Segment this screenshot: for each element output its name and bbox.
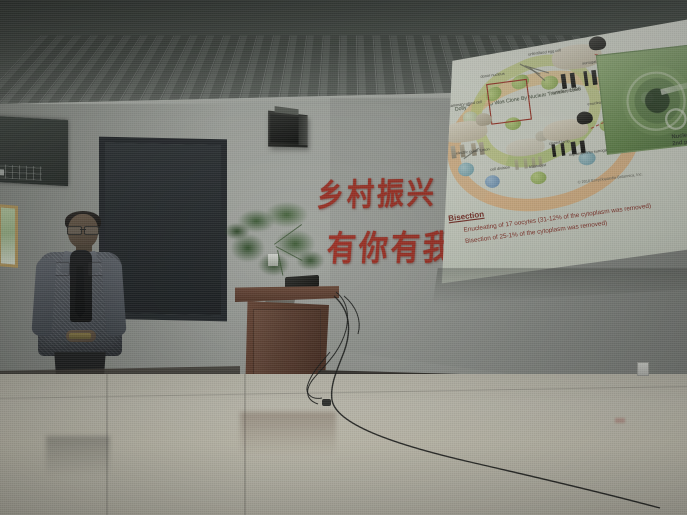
wall-mark xyxy=(615,418,625,423)
podium-floor-reflection xyxy=(240,412,336,456)
slide-content: Introduction and History Dolly The Sheep… xyxy=(434,18,687,286)
glasses-bridge xyxy=(80,229,86,230)
wall-outlet xyxy=(637,362,649,376)
oocyte-micrograph: Nuclei wi 2nd polar b xyxy=(596,44,687,155)
notice-board-marker xyxy=(0,169,4,175)
photo-scene: 乡村振兴 有你有我 Introduction and History Dolly… xyxy=(0,0,687,515)
glasses-icon xyxy=(67,226,99,233)
speaker-side xyxy=(299,115,308,145)
calligraphy-line-1: 乡村振兴 xyxy=(316,167,437,215)
cable-plug xyxy=(322,399,331,406)
wall-speaker-icon xyxy=(268,110,308,147)
presenter-clicker xyxy=(69,333,91,339)
inset-caption: Nuclei wi 2nd polar b xyxy=(671,130,687,149)
notice-board-grid xyxy=(0,164,42,180)
calligraphy-line-2: 有你有我 xyxy=(325,220,456,271)
projection-screen: Introduction and History Dolly The Sheep… xyxy=(434,18,687,286)
diagram-highlight-box xyxy=(486,79,532,125)
glasses-lens-left xyxy=(67,226,82,235)
presenter-shirt xyxy=(70,250,92,322)
presenter-floor-reflection xyxy=(46,436,110,476)
diagram-sheep-surrogate xyxy=(504,132,546,162)
plant-tag xyxy=(268,254,278,266)
sheep-head xyxy=(588,35,607,51)
wall-poster xyxy=(0,204,18,268)
notice-board xyxy=(0,116,68,186)
presenter-tie xyxy=(75,266,85,318)
glasses-lens-right xyxy=(84,226,99,235)
podium-top xyxy=(235,286,339,302)
speaker-face xyxy=(270,114,298,143)
